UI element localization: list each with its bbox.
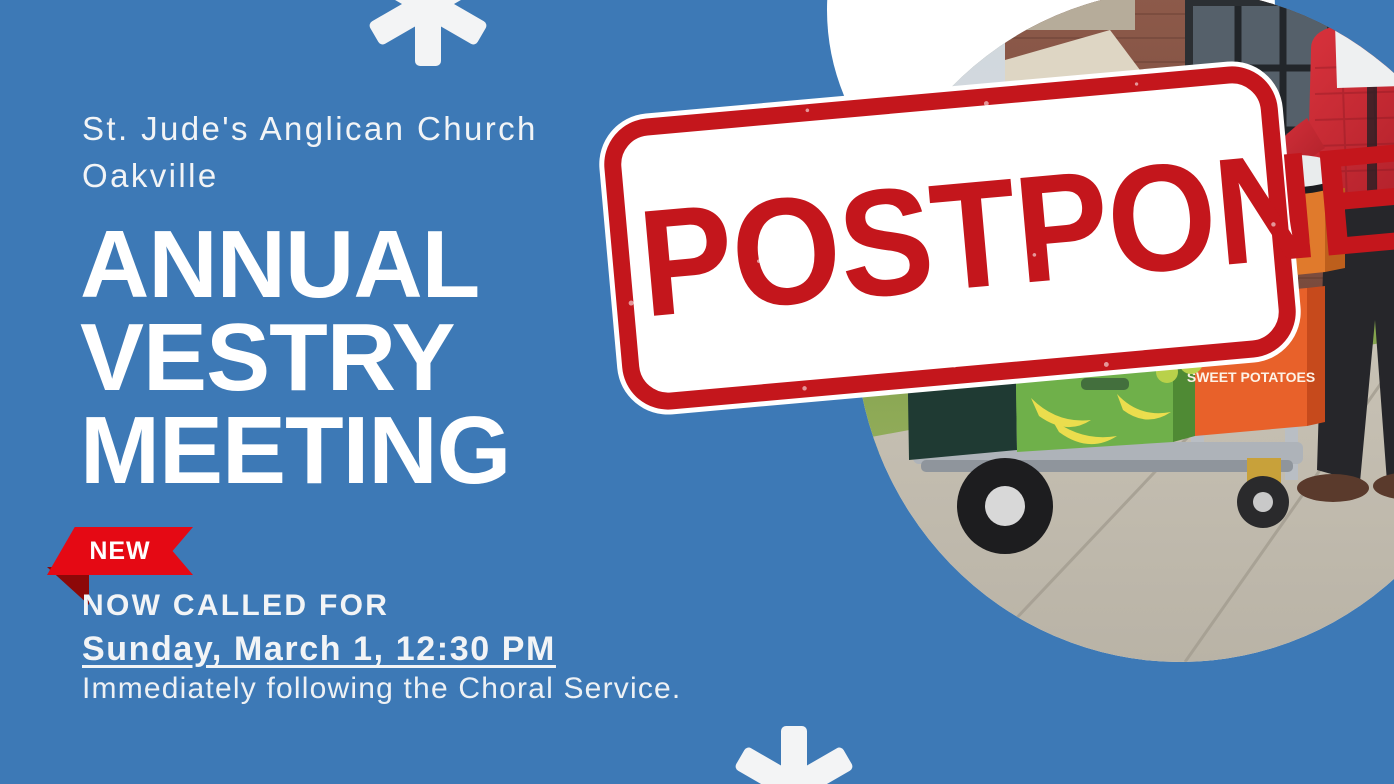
meeting-note: Immediately following the Choral Service… [82,672,681,706]
meeting-datetime: Sunday, March 1, 12:30 PM [82,630,556,669]
poster-canvas: BANANAS SWEET POTATOES MINI CUCUMBERS MI… [0,0,1394,784]
headline-line-3: MEETING [80,404,510,497]
organization-line-2: Oakville [82,153,642,200]
organization-line-1: St. Jude's Anglican Church [82,106,642,153]
asterisk-icon [718,712,870,784]
called-for-label: NOW CALLED FOR [82,589,389,623]
postponed-stamp: POSTPONED [600,63,1299,414]
svg-text:SWEET POTATOES: SWEET POTATOES [1187,369,1315,385]
page-title: ANNUAL VESTRY MEETING [80,218,510,497]
organization-name: St. Jude's Anglican Church Oakville [82,106,642,200]
asterisk-icon [352,0,504,80]
headline-line-1: ANNUAL [80,218,510,311]
headline-line-2: VESTRY [80,311,510,404]
ribbon-label: NEW [47,527,175,575]
new-ribbon-badge: NEW [47,527,193,575]
